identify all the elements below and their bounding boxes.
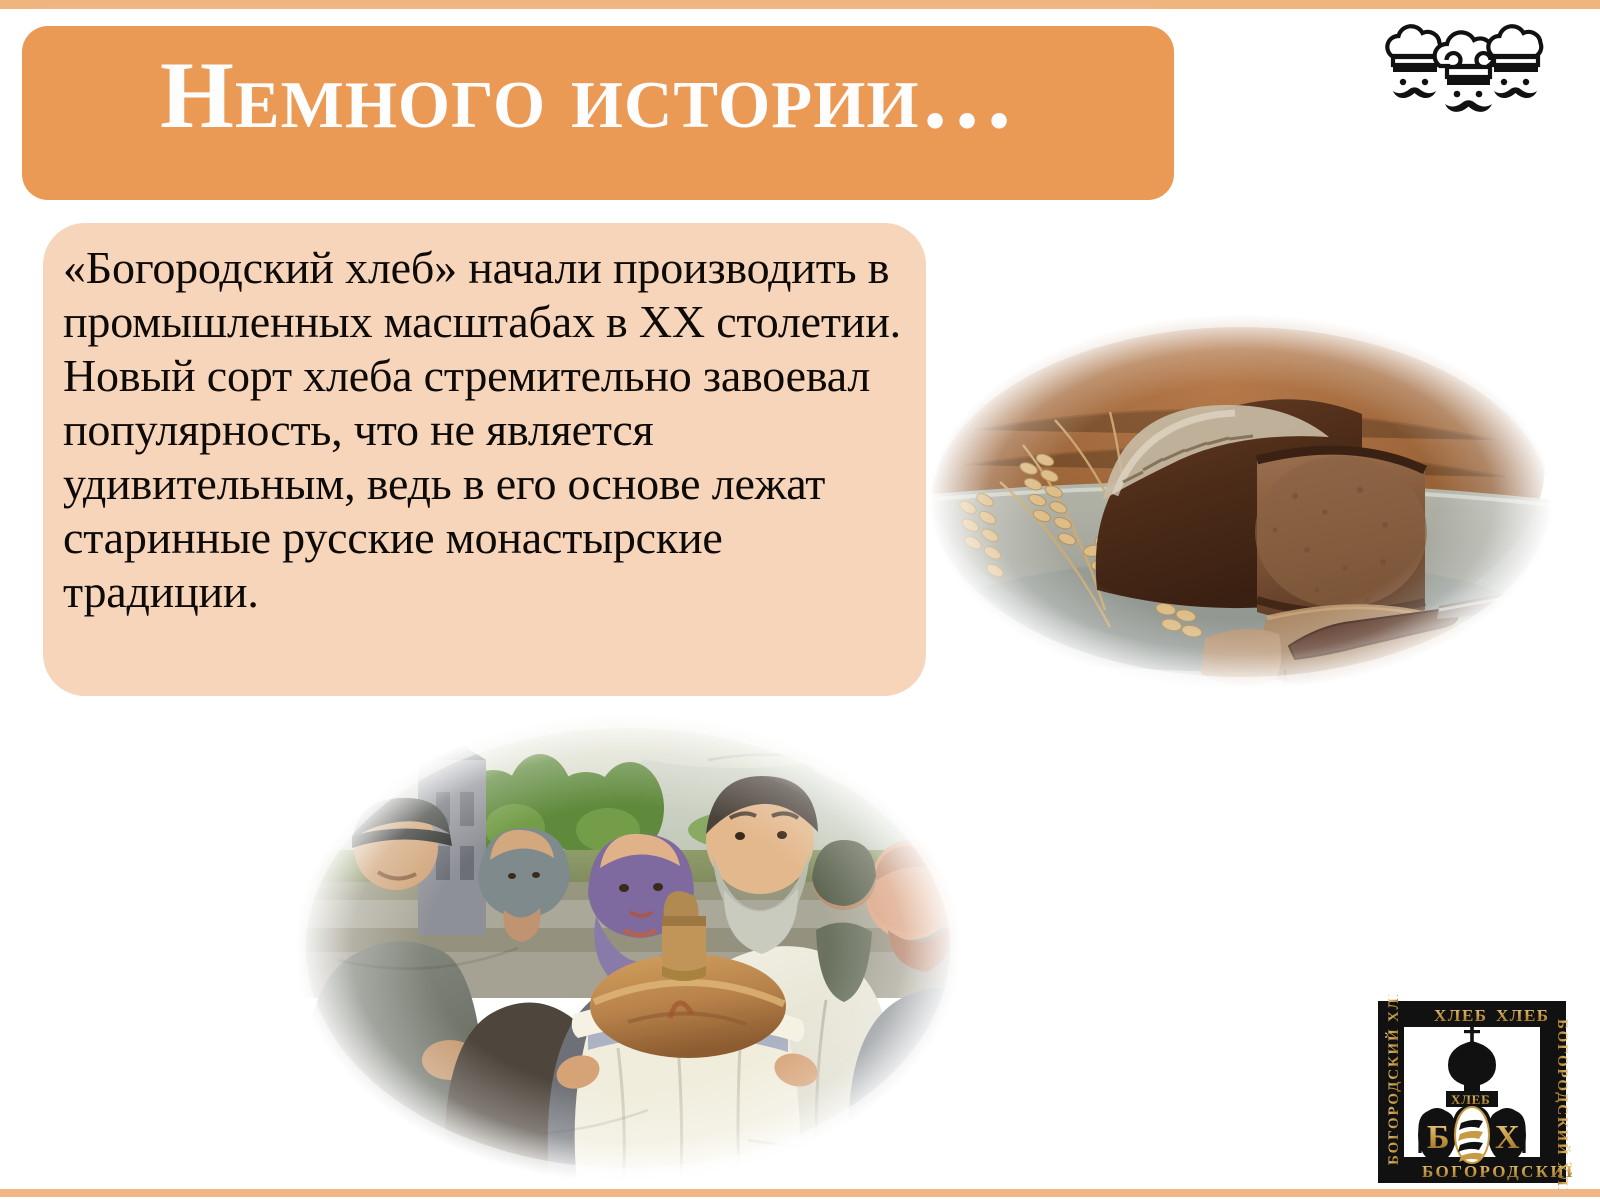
chef-face-middle: [1445, 91, 1492, 112]
logo-right-side-text: БОГОРОДСКИЙ ХЛЕБ: [1554, 1019, 1571, 1189]
logo-banner: ХЛЕБ: [1446, 1091, 1498, 1107]
logo-monogram-right: Х: [1495, 1119, 1520, 1156]
logo-bread-icon: [1455, 1107, 1489, 1163]
chef-face-right: [1494, 79, 1537, 98]
logo-left-side-text: БОГОРОДСКИЙ ХЛЕБ: [1385, 995, 1402, 1165]
logo-top-left-word: ХЛЕБ: [1434, 1006, 1488, 1025]
body-paragraph: «Богородский хлеб» начали производить в …: [63, 241, 903, 619]
chef-hat-left: [1387, 26, 1440, 72]
logo-bottom-word: БОГОРОДСКИЙ: [1422, 1162, 1572, 1181]
logo-monogram-left: Б: [1427, 1119, 1449, 1156]
logo-banner-word: ХЛЕБ: [1451, 1092, 1491, 1107]
three-chefs-icon: [1378, 22, 1546, 114]
villagers-painting: [278, 700, 978, 1195]
bogorodsky-hleb-logo: ХЛЕБ ХЛЕБ БОГОРОДСКИЙ БОГОРОДСКИЙ ХЛЕБ Б…: [1372, 995, 1572, 1189]
chef-face-left: [1393, 79, 1436, 98]
logo-top-right-word: ХЛЕБ: [1496, 1006, 1550, 1025]
top-accent-band: [0, 0, 1600, 9]
bottom-accent-band: [0, 1189, 1600, 1197]
page-title: Немного истории…: [160, 48, 1120, 143]
chef-hat-middle: [1435, 32, 1494, 85]
chef-hat-right: [1488, 26, 1541, 72]
rye-bread-photo: [905, 300, 1577, 704]
